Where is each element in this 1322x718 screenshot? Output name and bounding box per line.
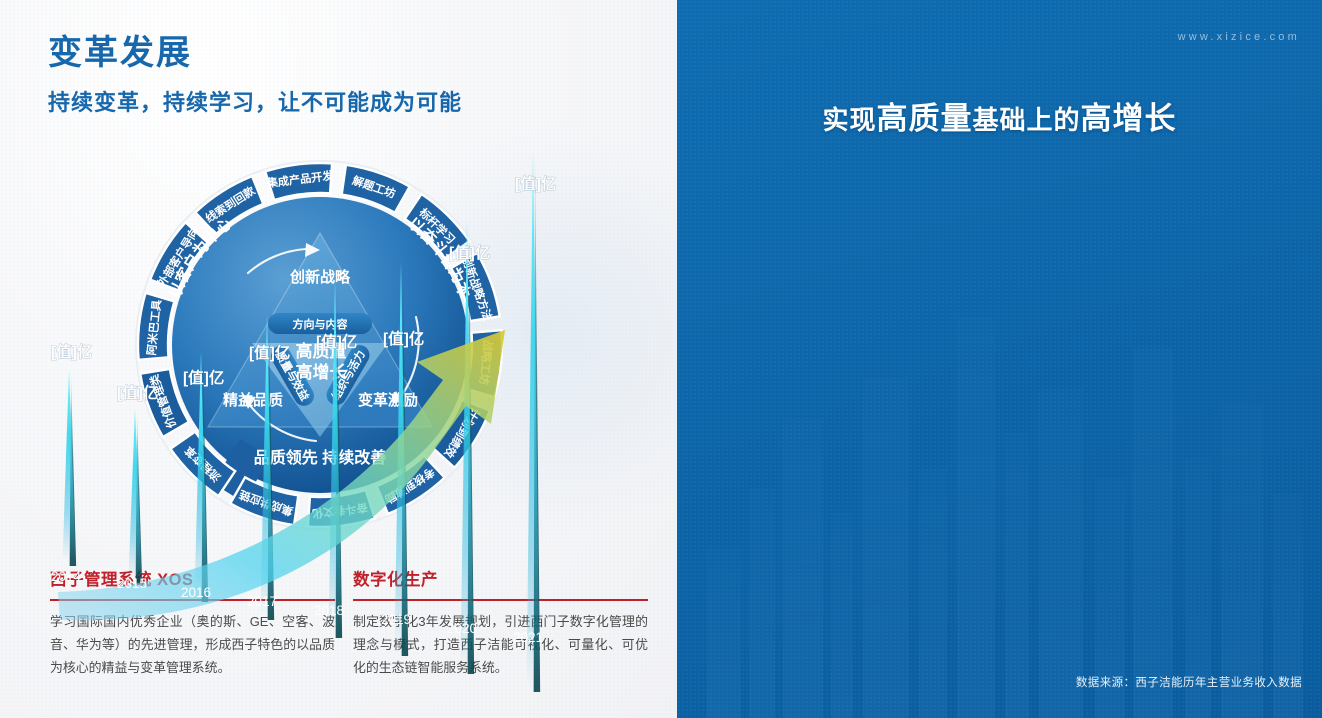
year-label: 2020 [447, 621, 477, 636]
year-label: 2021 [513, 630, 543, 645]
year-label: 2019 [381, 612, 411, 627]
value-label: [值]亿 [449, 243, 490, 262]
year-label: 2014 [51, 569, 82, 584]
chart-title: 实现高质量基础上的高增长 [677, 93, 1322, 138]
value-label: [值]亿 [249, 343, 290, 362]
source-note: 数据来源：西子洁能历年主营业务收入数据 [1076, 674, 1302, 690]
spike-bar[interactable] [195, 352, 208, 596]
chart-title-p3: 基础上的 [973, 105, 1081, 135]
value-label: [值]亿 [117, 383, 158, 402]
chart-title-p2: 高质量 [877, 101, 973, 136]
spike-bar[interactable] [527, 152, 540, 686]
spike-bar[interactable] [129, 408, 142, 578]
value-label: [值]亿 [316, 332, 357, 351]
year-label: 2016 [181, 585, 211, 600]
value-label: [值]亿 [383, 329, 424, 348]
value-label: [值]亿 [183, 368, 224, 387]
spike-bar[interactable] [461, 218, 474, 668]
year-label: 2015 [117, 576, 147, 591]
value-label: [值]亿 [51, 342, 92, 361]
site-watermark: www.xizice.com [1178, 31, 1300, 43]
year-label: 2017 [247, 594, 277, 609]
year-label: 2018 [314, 603, 344, 618]
spike-bar[interactable] [63, 370, 76, 560]
value-label: [值]亿 [515, 174, 556, 193]
spike-bar[interactable] [329, 280, 342, 632]
chart-title-p1: 实现 [822, 105, 876, 135]
slide-root: 变革发展 持续变革，持续学习，让不可能成为可能 [0, 0, 1322, 718]
chart-title-p4: 高增长 [1081, 101, 1177, 136]
